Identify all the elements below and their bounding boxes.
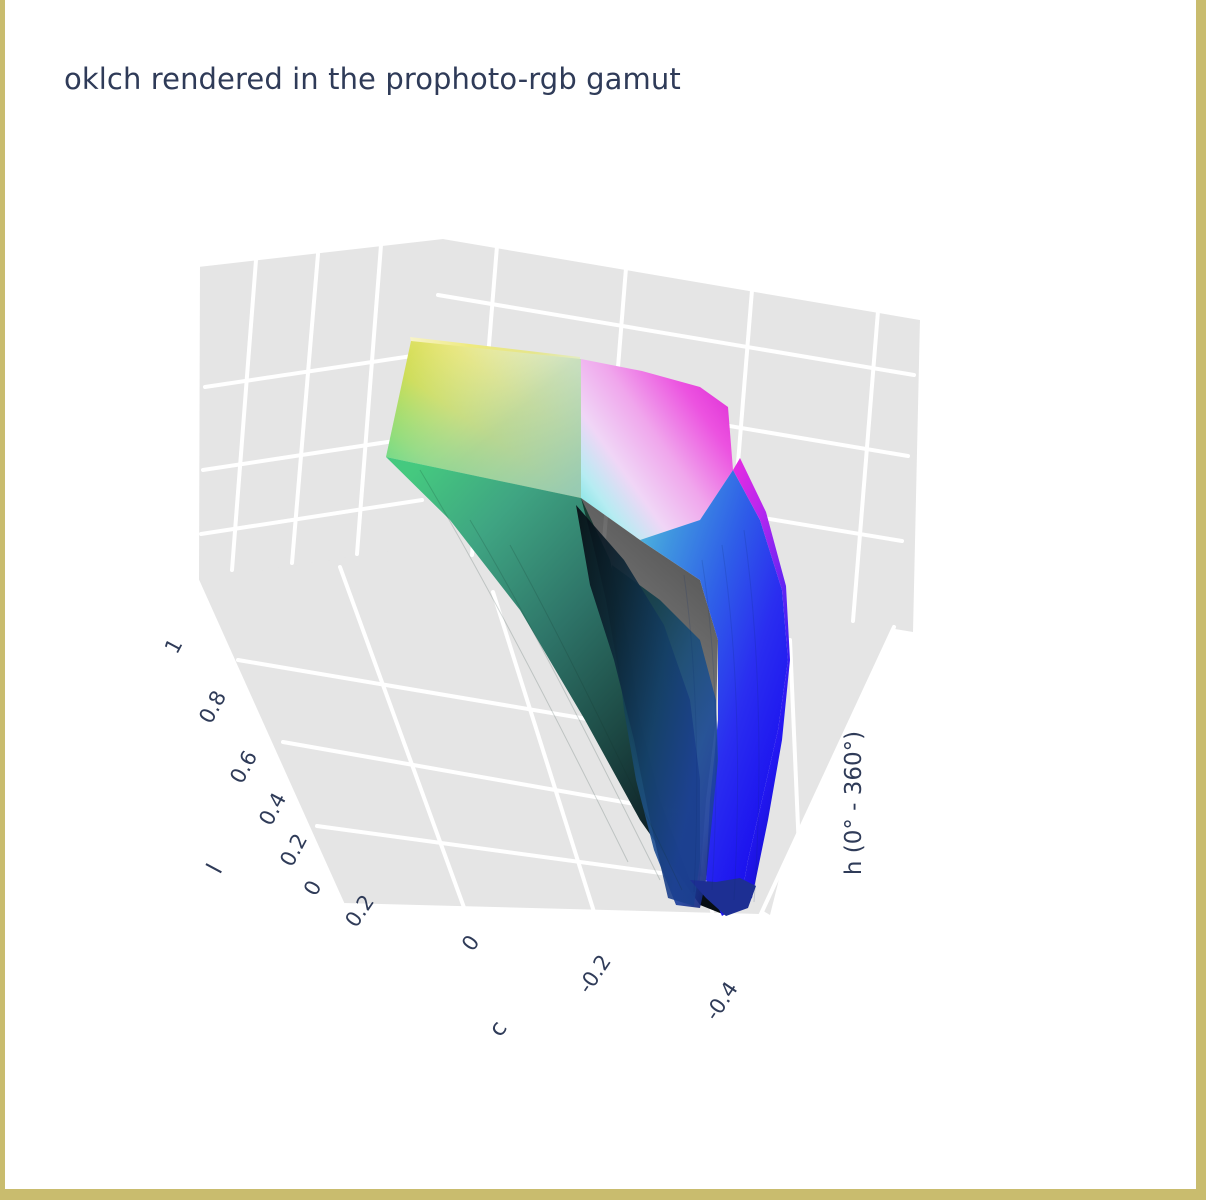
axis-title-h: h (0° - 360°) — [841, 731, 867, 875]
gamut-3d-canvas — [0, 0, 1206, 1200]
gamut-3d-figure: 1 0.8 0.6 0.4 0.2 0 0.2 0 -0.2 -0.4 l c … — [0, 0, 1206, 1200]
